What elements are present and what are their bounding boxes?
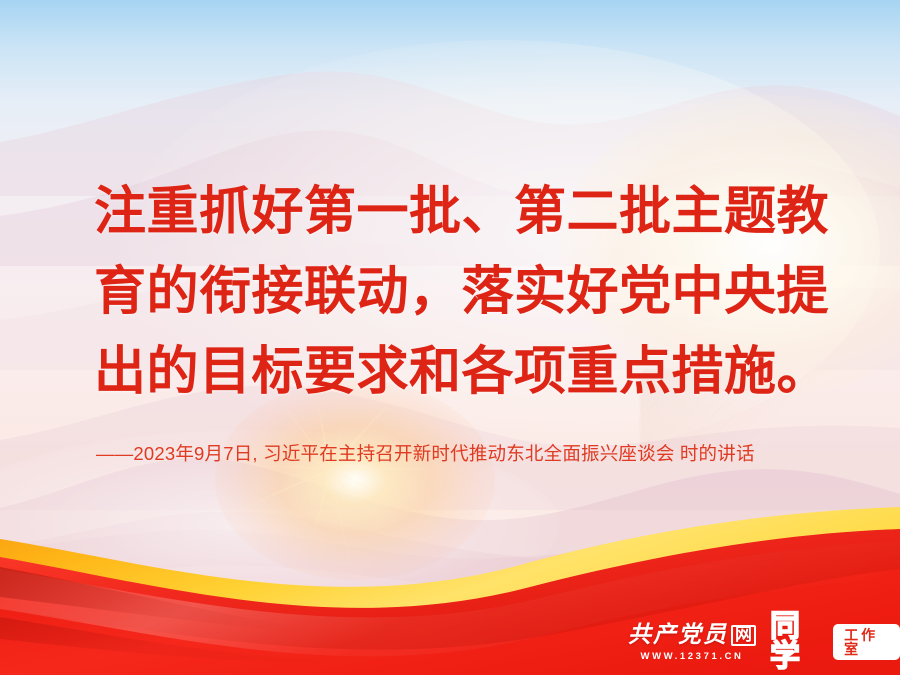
- mountain-layer-6: [0, 450, 900, 620]
- attribution-line-1: ——2023年9月7日, 习近平在主持召开新时代推动东北全面振兴座谈会: [96, 443, 675, 464]
- headline-line-3: 出的目标要求和各项重点措施。: [94, 332, 834, 412]
- brand-tongxue-studio-logo[interactable]: 同学 工作室: [770, 612, 900, 672]
- attribution-line-2: 时的讲话: [680, 443, 755, 464]
- poster-canvas: 注重抓好第一批、第二批主题教 育的衔接联动，落实好党中央提 出的目标要求和各项重…: [0, 0, 900, 675]
- brand-studio-badge: 工作室: [833, 624, 900, 660]
- page-title: 注重抓好第一批、第二批主题教 育的衔接联动，落实好党中央提 出的目标要求和各项重…: [94, 172, 834, 412]
- headline-line-1: 注重抓好第一批、第二批主题教: [94, 172, 834, 252]
- brand-tongxue-text: 同学: [770, 612, 828, 672]
- brand-12371-logo[interactable]: 共 产 党 员 网 WWW.12371.CN: [628, 623, 756, 662]
- brand-char-chan: 产: [653, 623, 676, 646]
- headline-line-2: 育的衔接联动，落实好党中央提: [94, 252, 834, 332]
- brand-website-url[interactable]: WWW.12371.CN: [641, 651, 744, 662]
- brand-char-wang: 网: [731, 625, 756, 646]
- brand-char-gong: 共: [628, 623, 651, 646]
- logo-lockup[interactable]: 共 产 党 员 网 WWW.12371.CN 同学 工作室: [628, 612, 900, 672]
- brand-12371-script: 共 产 党 员 网: [628, 623, 756, 646]
- brand-char-yuan: 员: [703, 623, 726, 646]
- brand-char-dang: 党: [678, 623, 701, 646]
- quote-attribution: ——2023年9月7日, 习近平在主持召开新时代推动东北全面振兴座谈会 时的讲话: [96, 436, 856, 471]
